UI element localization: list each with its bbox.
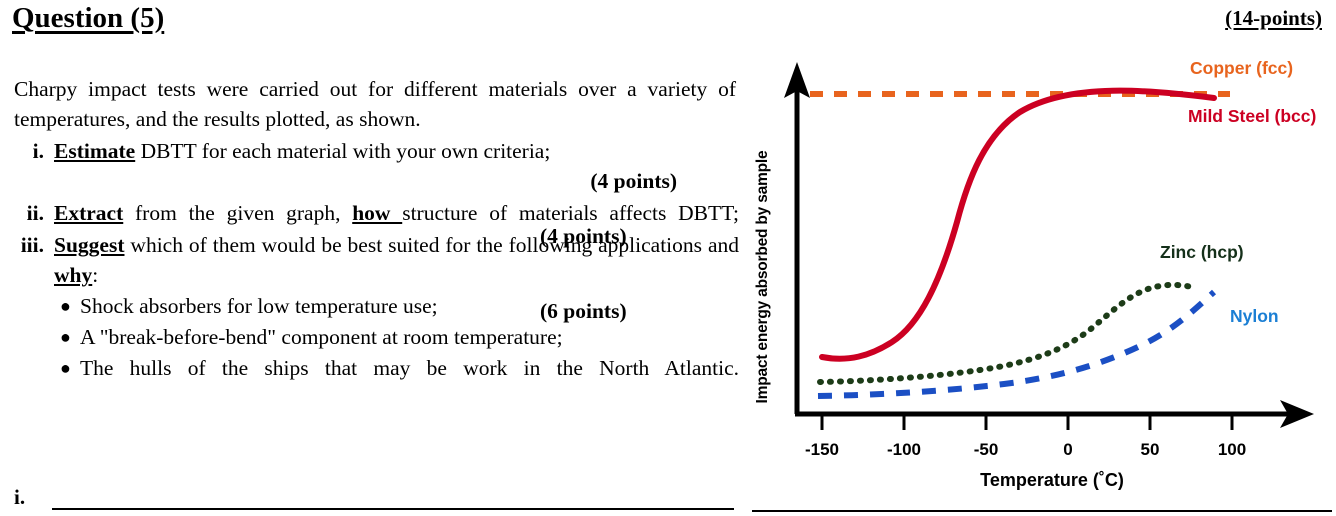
answer-line-row: i. [14,482,734,510]
x-tick-label: 0 [1063,440,1072,459]
item-text-iii-part1: which of them would be best suited for t… [124,233,739,257]
item-marker-i: i. [14,136,54,196]
series-label-zinc: Zinc (hcp) [1160,242,1244,262]
chart-x-axis [795,400,1314,428]
item-body-iii: Suggest which of them would be best suit… [54,230,739,384]
series-label-mild-steel: Mild Steel (bcc) [1188,106,1316,126]
item-keyword-how: how [352,201,402,225]
question-item-iii: iii. Suggest which of them would be best… [14,230,739,384]
bullet-dot-icon: ● [60,291,71,322]
chart-svg: -150 -100 -50 0 50 100 Temperature (˚C) … [752,46,1336,506]
item-points-iii: (6 points) [540,299,627,324]
item-marker-ii: ii. [14,198,54,228]
x-tick-label: 50 [1141,440,1160,459]
chart-x-tick-labels: -150 -100 -50 0 50 100 [805,440,1246,459]
x-tick-label: -50 [974,440,999,459]
bullet-text: A "break-before-bend" component at room … [80,325,563,349]
item-points-i: (4 points) [54,166,739,196]
list-item: ●The hulls of the ships that may be work… [54,353,739,384]
series-line-zinc [820,285,1192,382]
item-text-i: DBTT for each material with your own cri… [135,139,550,163]
x-tick-label: 100 [1218,440,1246,459]
question-page: Question (5) (14-points) Charpy impact t… [0,0,1336,516]
chart-x-axis-label: Temperature (˚C) [980,470,1124,490]
chart-y-axis [784,62,810,414]
item-keyword-why: why [54,263,92,287]
bullet-text: The hulls of the ships that may be work … [80,353,739,384]
item-marker-iii: iii. [14,230,54,384]
series-line-mild-steel [822,91,1214,359]
total-points-badge: (14-points) [1225,6,1322,31]
application-bullet-list: ●Shock absorbers for low temperature use… [54,291,739,384]
charpy-impact-chart: Impact energy absorbed by sample [752,46,1336,506]
x-tick-label: -150 [805,440,839,459]
bullet-dot-icon: ● [60,322,71,353]
chart-bottom-divider [752,510,1332,512]
bullet-text: Shock absorbers for low temperature use; [80,294,438,318]
question-text-column: Charpy impact tests were carried out for… [14,74,739,384]
page-title: Question (5) [12,2,164,35]
item-points-ii: (4 points) [540,224,627,249]
answer-write-line[interactable] [52,482,734,510]
chart-x-ticks [822,416,1232,430]
bullet-dot-icon: ● [60,353,71,384]
question-item-ii: ii. Extract from the given graph, how st… [14,198,739,228]
list-item: ●A "break-before-bend" component at room… [54,322,739,353]
item-text-ii-part2: structure of materials affects DBTT; [402,201,739,225]
series-label-copper: Copper (fcc) [1190,58,1293,78]
item-keyword-estimate: Estimate [54,139,135,163]
item-body-ii: Extract from the given graph, how struct… [54,198,739,228]
question-item-i: i. Estimate DBTT for each material with … [14,136,739,196]
question-intro: Charpy impact tests were carried out for… [14,74,736,134]
list-item: ●Shock absorbers for low temperature use… [54,291,739,322]
x-tick-label: -100 [887,440,921,459]
series-label-nylon: Nylon [1230,306,1279,326]
item-keyword-extract: Extract [54,201,123,225]
item-body-i: Estimate DBTT for each material with you… [54,136,739,196]
answer-index-i: i. [14,485,52,510]
item-text-ii-part1: from the given graph, [123,201,352,225]
item-text-iii-part2: : [92,263,98,287]
item-keyword-suggest: Suggest [54,233,124,257]
